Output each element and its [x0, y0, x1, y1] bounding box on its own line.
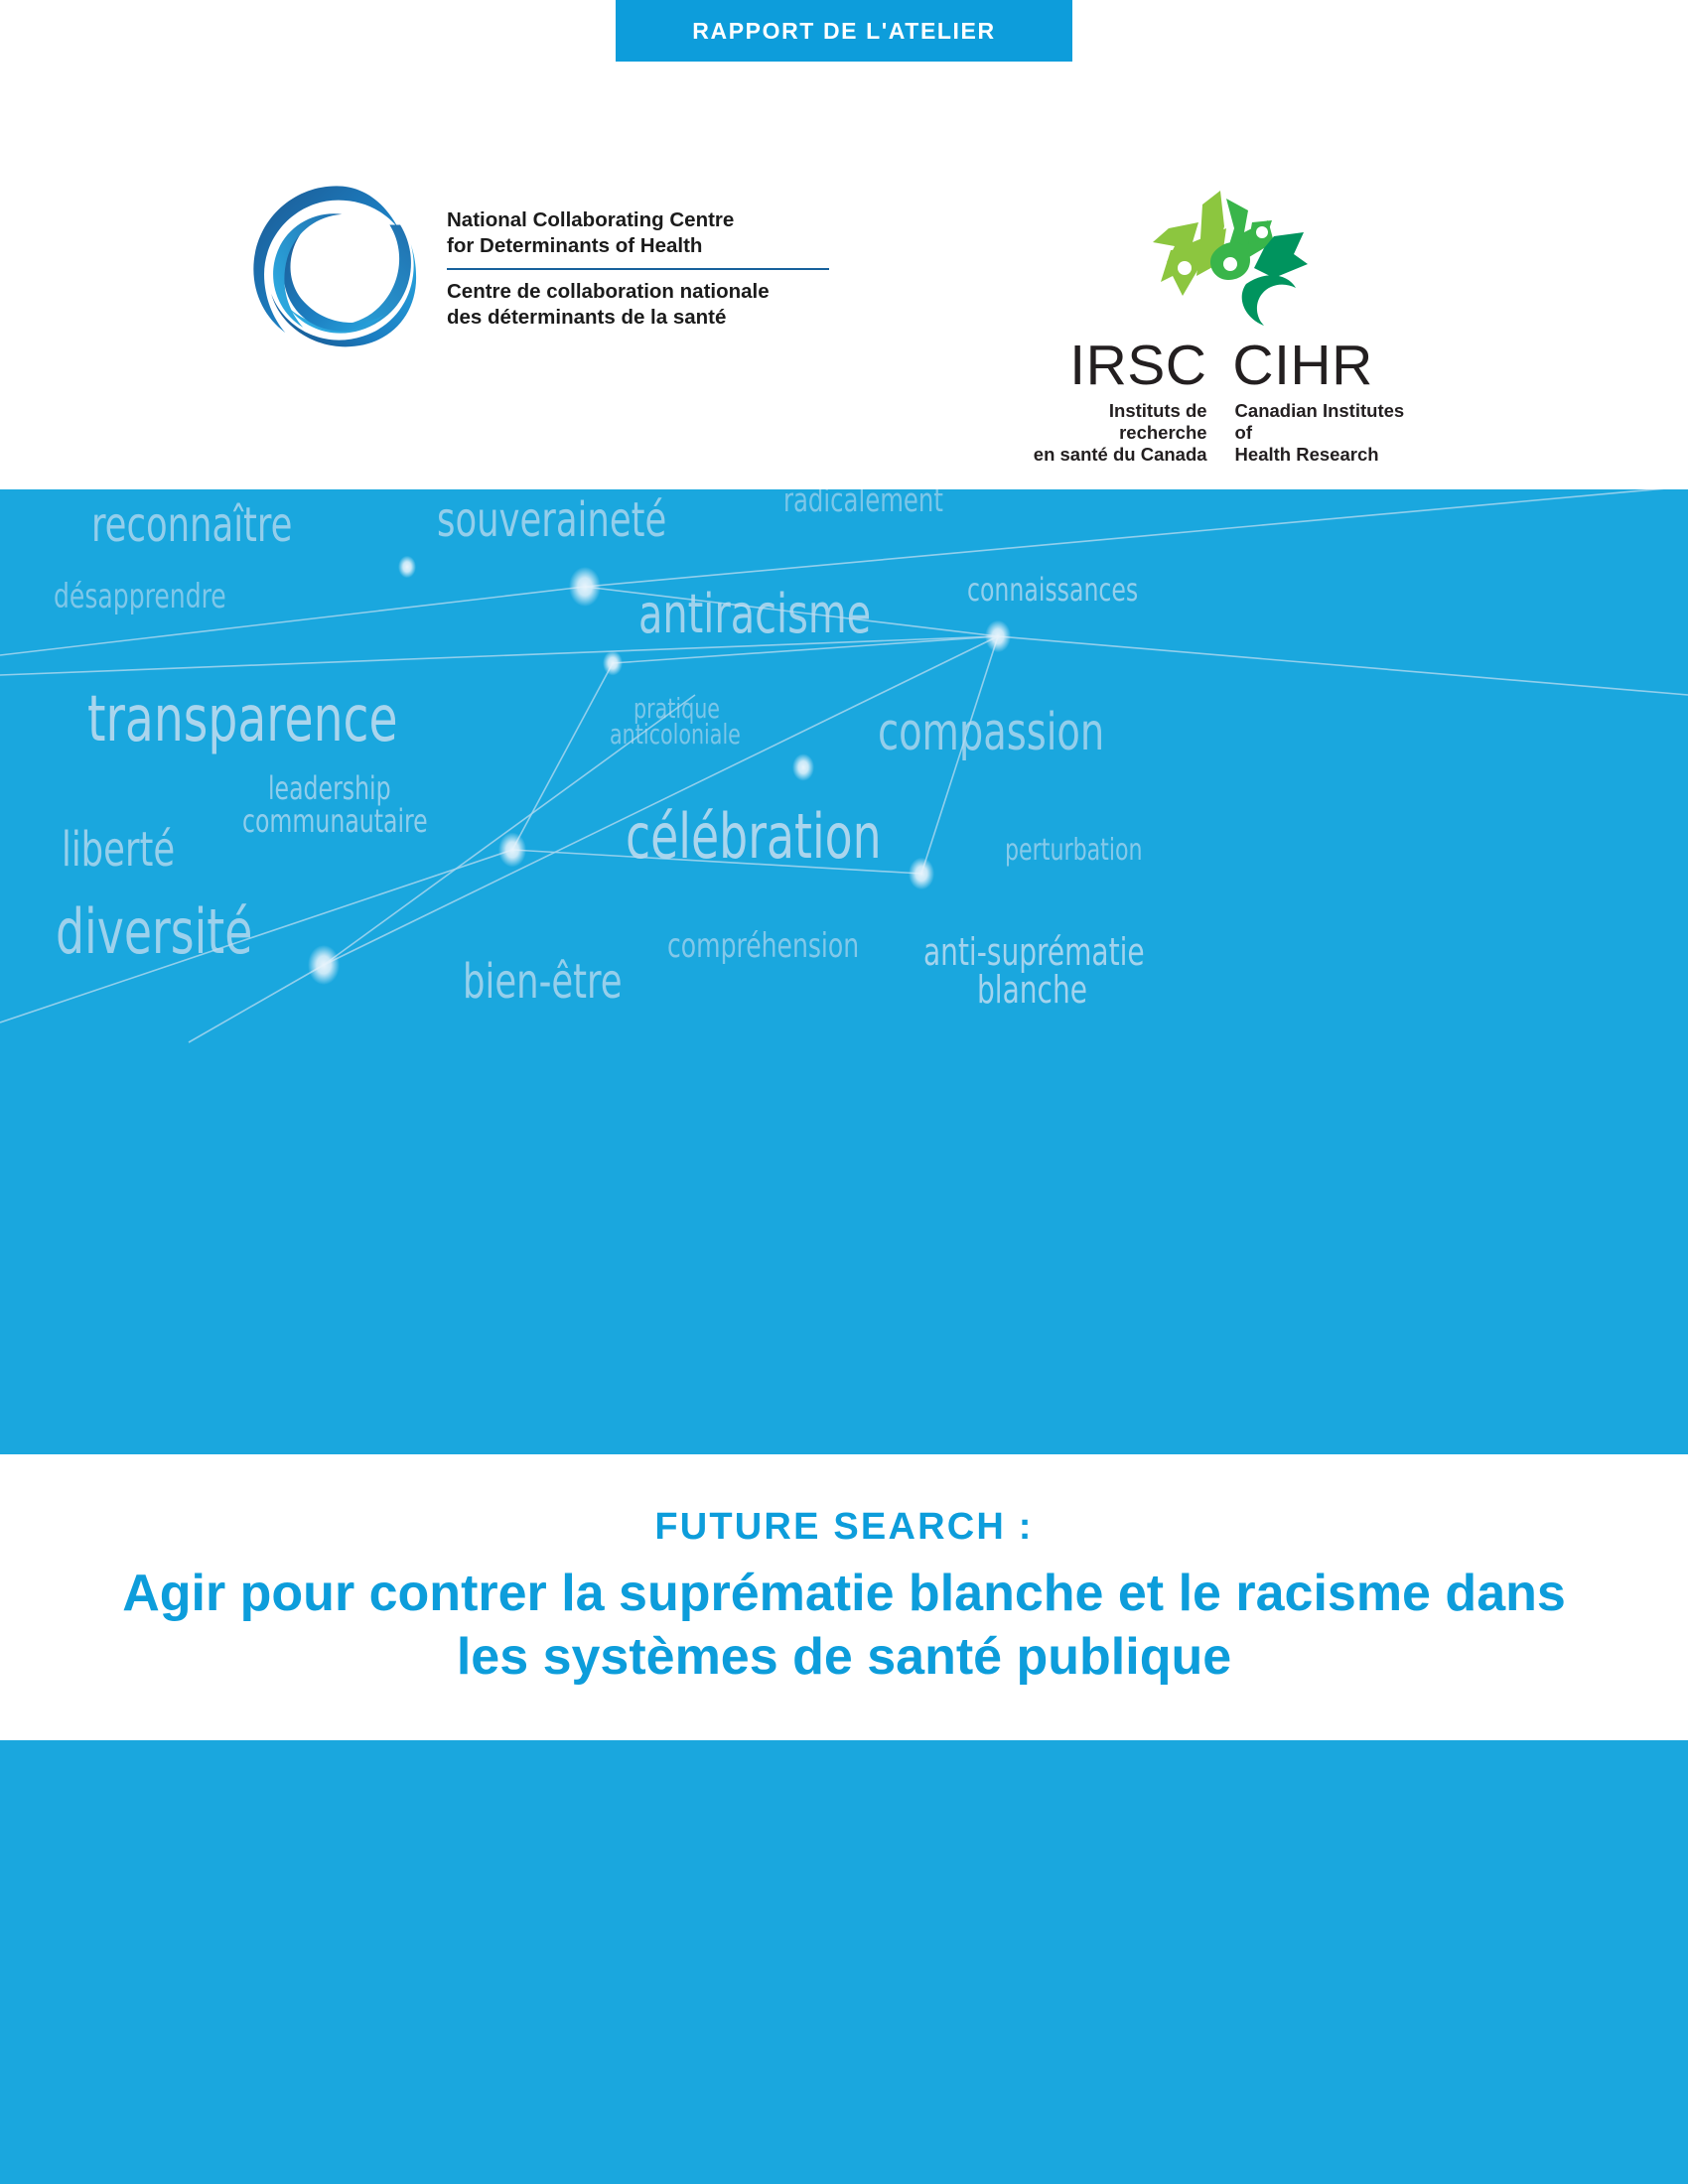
cihr-acronyms: IRSC CIHR [1033, 338, 1410, 394]
report-type-banner: RAPPORT DE L'ATELIER [616, 0, 1072, 62]
network-graphic [0, 1740, 1688, 2184]
cihr-acronym-fr: IRSC [1069, 338, 1206, 394]
network-node [308, 945, 340, 985]
network-node [498, 833, 526, 868]
report-type-label: RAPPORT DE L'ATELIER [692, 18, 995, 45]
title-block: FUTURE SEARCH : Agir pour contrer la sup… [0, 1454, 1688, 1740]
cloud-word: blanche [977, 971, 1087, 1009]
logo-strip: National Collaborating Centre for Determ… [0, 62, 1688, 489]
network-edge [189, 965, 324, 1042]
word-cloud-top: changementsignificatifguérisonsagessecha… [0, 489, 1688, 1454]
cloud-word: compassion [878, 707, 1104, 758]
nccdh-wordmark: National Collaborating Centre for Determ… [447, 207, 829, 332]
nccdh-logo: National Collaborating Centre for Determ… [248, 181, 829, 357]
cloud-word: compréhension [667, 929, 859, 963]
cloud-word: reconnaître [91, 501, 292, 549]
cloud-word: leadership [268, 772, 391, 804]
cloud-word: connaissances [967, 574, 1138, 606]
cloud-word: désapprendre [54, 580, 226, 614]
cloud-word: radicalement [783, 489, 943, 516]
cloud-word: célébration [626, 806, 882, 868]
cloud-word: transparence [87, 688, 398, 751]
network-node [792, 753, 814, 781]
cihr-logo: IRSC CIHR Instituts de recherche en sant… [1033, 189, 1410, 465]
nccdh-swirl-icon [248, 181, 425, 357]
cloud-word: liberté [62, 826, 175, 874]
cloud-word: souveraineté [437, 496, 666, 544]
page-title: Agir pour contrer la suprématie blanche … [114, 1563, 1574, 1689]
cihr-acronym-en: CIHR [1232, 338, 1372, 394]
network-edge [998, 636, 1688, 695]
network-node [569, 567, 601, 607]
cloud-word: antiracisme [638, 588, 871, 641]
network-node [985, 620, 1011, 653]
nccdh-name-en: National Collaborating Centre for Determ… [447, 207, 829, 259]
cihr-sublines: Instituts de recherche en santé du Canad… [1033, 400, 1410, 465]
cloud-word: bien-être [463, 958, 623, 1006]
network-node [603, 651, 623, 676]
nccdh-name-fr: Centre de collaboration nationale des dé… [447, 279, 829, 331]
cloud-word: diversité [56, 901, 252, 963]
word-cloud-bottom: pouvoirresponsabilitéautodéterminationno… [0, 1740, 1688, 2184]
maple-leaf-icon [1107, 189, 1336, 336]
network-node [909, 858, 934, 890]
network-edge [512, 663, 613, 850]
cloud-word: anti-suprématie [923, 933, 1145, 971]
cihr-subtitle-en: Canadian Institutes of Health Research [1235, 400, 1410, 465]
cloud-word: perturbation [1005, 836, 1143, 866]
cihr-subtitle-fr: Instituts de recherche en santé du Canad… [1033, 400, 1207, 465]
cloud-word: communautaire [242, 805, 428, 837]
network-node [398, 556, 416, 579]
cloud-word: anticoloniale [610, 721, 741, 749]
nccdh-divider [447, 268, 829, 270]
title-kicker: FUTURE SEARCH : [654, 1506, 1033, 1549]
